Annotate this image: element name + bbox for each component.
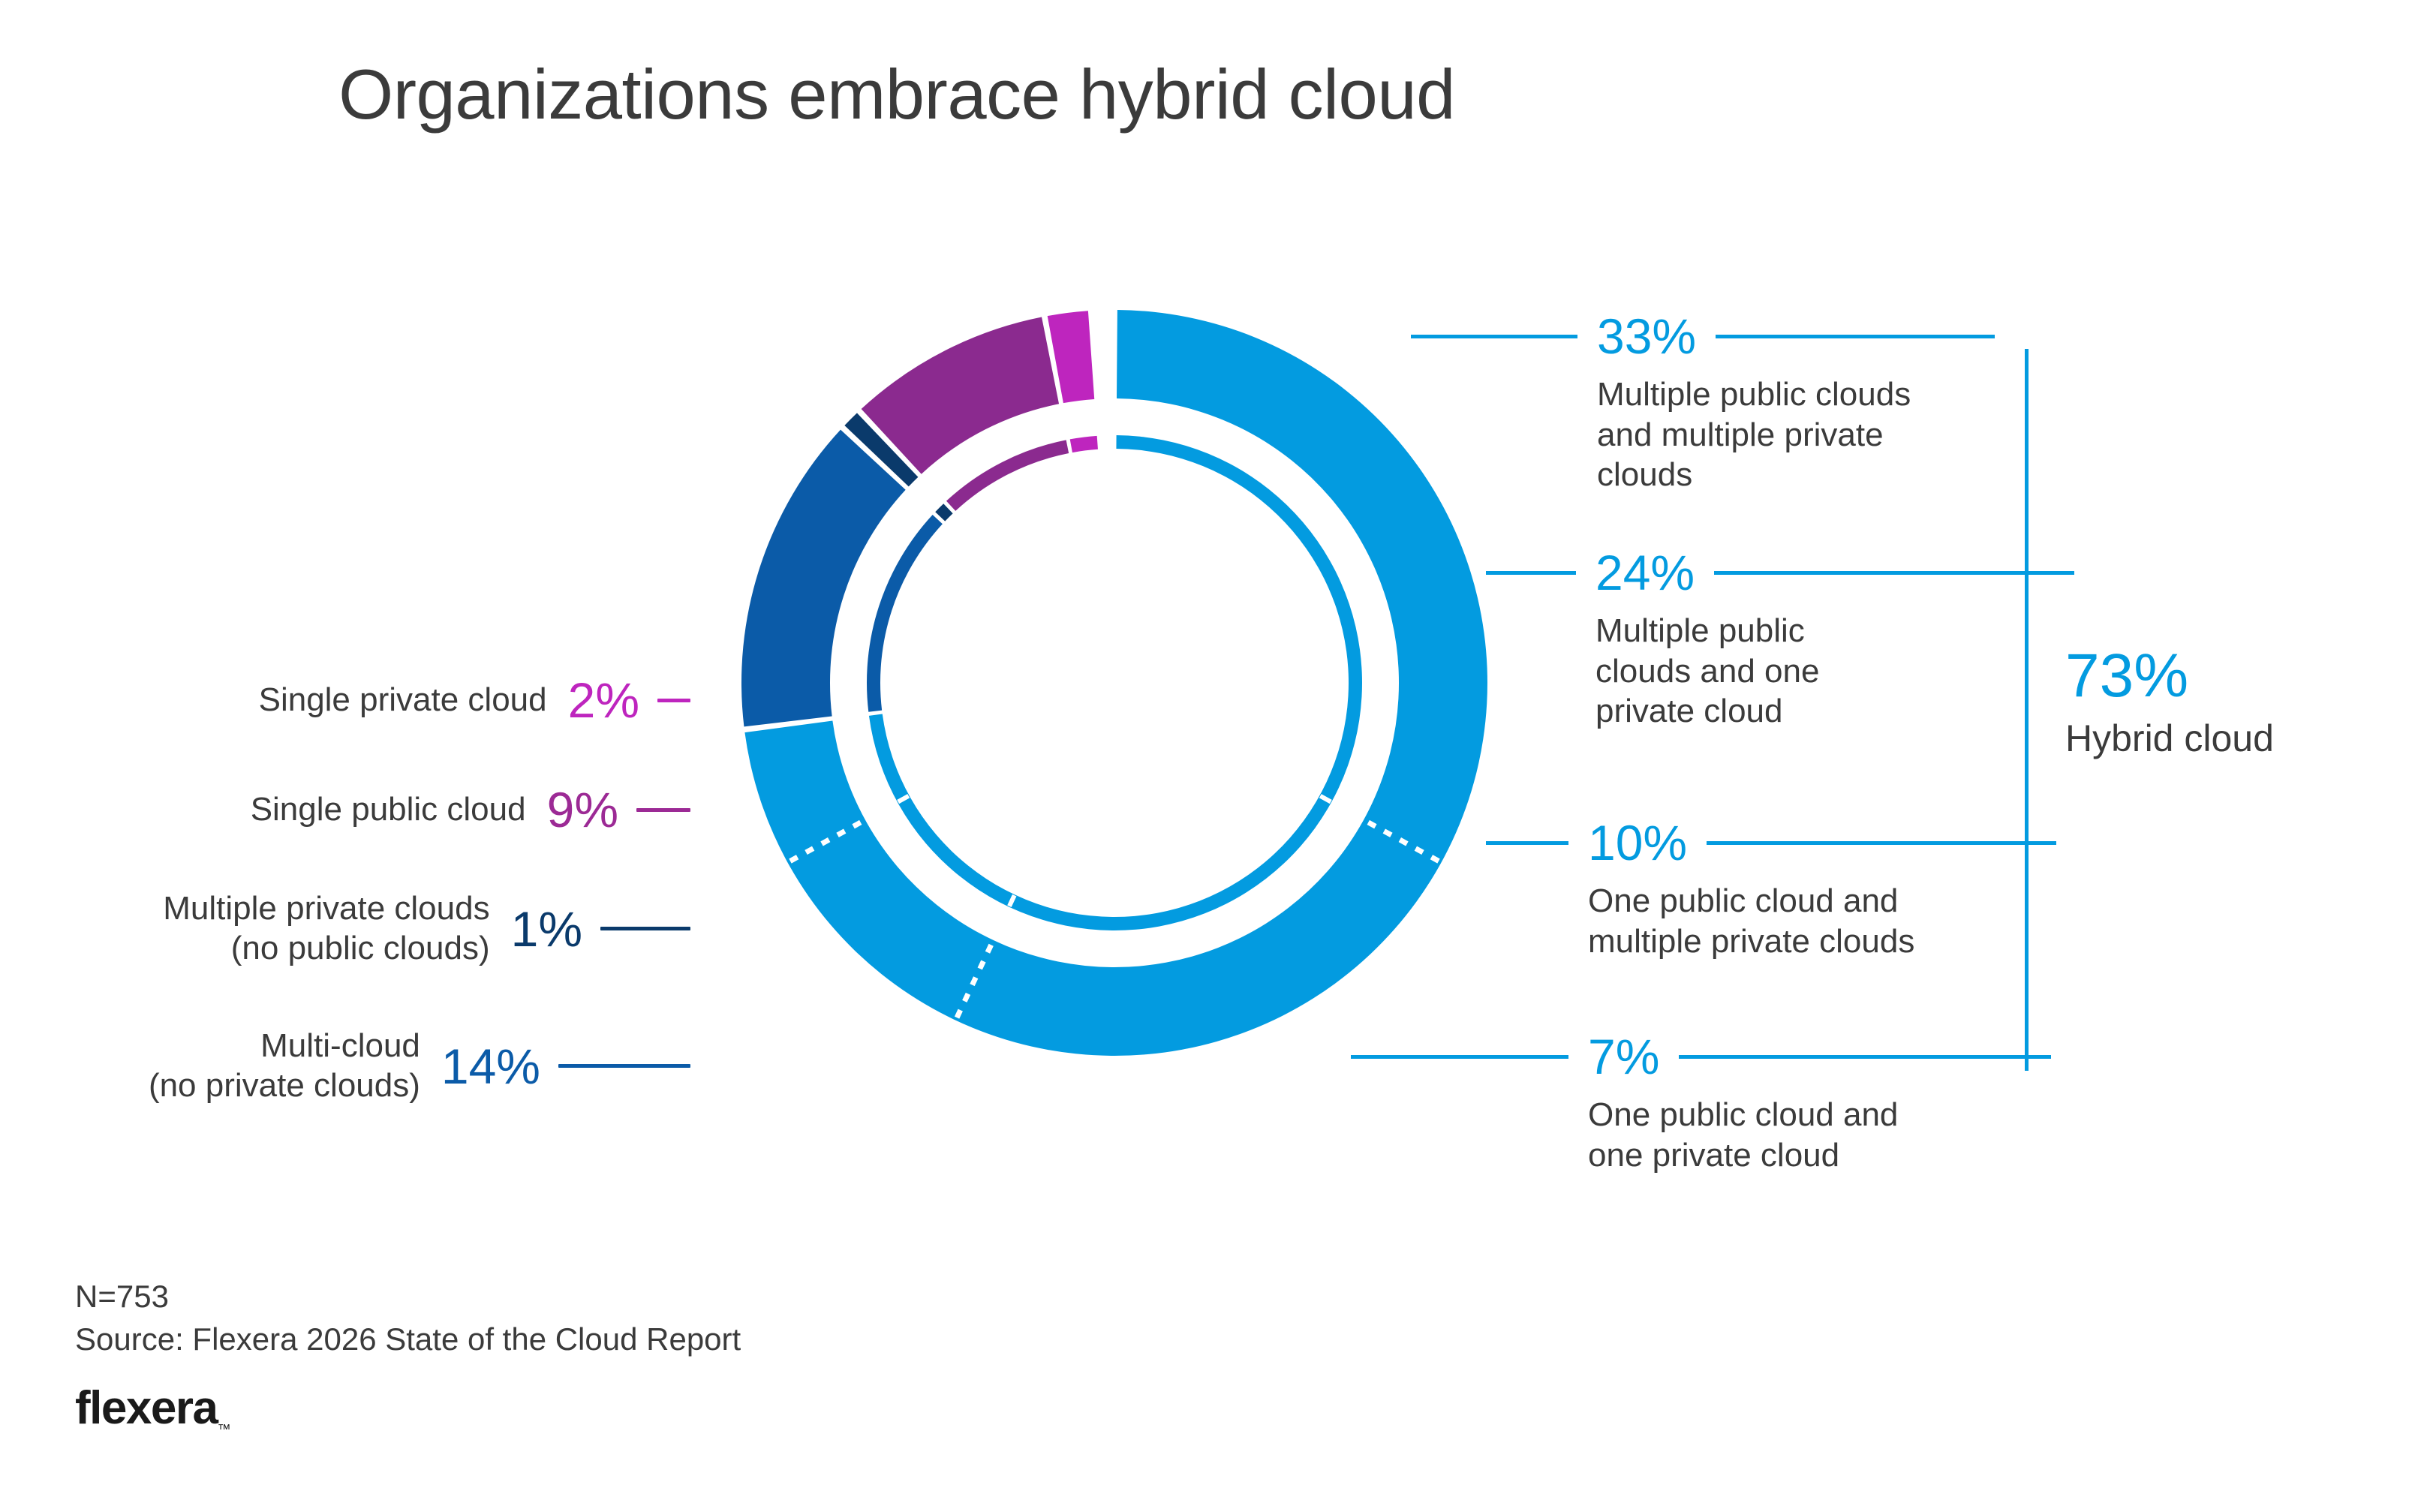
sample-size-text: N=753	[75, 1276, 741, 1318]
callout-value: 7%	[1588, 1032, 1659, 1081]
donut-svg	[735, 304, 1493, 1062]
leader-line-right	[1714, 571, 2074, 575]
callout-multi-cloud: Multi-cloud (no private clouds) 14%	[45, 1027, 690, 1106]
callout-label-line1: Multi-cloud	[149, 1027, 420, 1066]
callout-description: Multiple public clouds and one private c…	[1595, 611, 1896, 732]
callout-multiple-public-multiple-private: 33% Multiple public clouds and multiple …	[1411, 311, 1995, 495]
callout-single-private-cloud: Single private cloud 2%	[113, 675, 690, 725]
callout-label: Multiple private clouds (no public cloud…	[163, 889, 489, 969]
hybrid-total-value: 73%	[2065, 645, 2274, 707]
inner-slice	[935, 503, 952, 521]
callout-description: One public cloud and one private cloud	[1588, 1095, 1941, 1175]
inner-slice	[946, 440, 1069, 511]
callout-value: 33%	[1597, 311, 1696, 361]
callout-value: 2%	[568, 675, 639, 725]
hybrid-total-label: Hybrid cloud	[2065, 716, 2274, 761]
callout-one-public-one-private: 7% One public cloud and one private clou…	[1351, 1032, 2051, 1175]
hybrid-bracket-line	[2025, 349, 2029, 1071]
trademark-symbol: ™	[217, 1422, 230, 1437]
callout-value-row: 24%	[1486, 548, 2074, 597]
callout-single-public-cloud: Single public cloud 9%	[113, 785, 690, 834]
callout-label: Multi-cloud (no private clouds)	[149, 1027, 420, 1106]
donut-chart	[735, 304, 1493, 1062]
leader-line-right	[1679, 1055, 2051, 1059]
footer: N=753 Source: Flexera 2026 State of the …	[75, 1276, 741, 1438]
leader-line-left	[1486, 841, 1568, 845]
callout-label: Single public cloud	[251, 790, 526, 830]
leader-line-left	[1351, 1055, 1568, 1059]
flexera-logo-text: flexera	[75, 1382, 217, 1434]
callout-value: 10%	[1588, 818, 1687, 867]
leader-line-right	[1707, 841, 2056, 845]
callout-description: One public cloud and multiple private cl…	[1588, 881, 1918, 961]
callout-label-line1: Multiple private clouds	[163, 889, 489, 929]
leader-line-left	[1486, 571, 1576, 575]
hybrid-total-callout: 73% Hybrid cloud	[2065, 645, 2274, 761]
inner-slice	[1070, 436, 1098, 452]
callout-value-row: 10%	[1486, 818, 2056, 867]
page-title: Organizations embrace hybrid cloud	[0, 54, 1794, 135]
callout-one-public-multiple-private: 10% One public cloud and multiple privat…	[1486, 818, 2056, 961]
leader-line-left	[1411, 335, 1577, 338]
callout-value: 9%	[547, 785, 618, 834]
callout-value: 1%	[511, 904, 582, 954]
inner-ring	[867, 435, 1362, 930]
outer-ring	[741, 310, 1487, 1056]
callout-value-row: 7%	[1351, 1032, 2051, 1081]
callout-multiple-private-clouds: Multiple private clouds (no public cloud…	[45, 889, 690, 969]
leader-line	[600, 927, 690, 930]
flexera-logo: flexera™	[75, 1381, 741, 1437]
outer-slice	[741, 430, 906, 727]
callout-value: 14%	[441, 1042, 540, 1091]
callout-label-line2: (no private clouds)	[149, 1066, 420, 1106]
callout-label: Single private cloud	[259, 681, 547, 720]
callout-value-row: 33%	[1411, 311, 1995, 361]
inner-slice	[867, 515, 943, 712]
source-text: Source: Flexera 2026 State of the Cloud …	[75, 1318, 741, 1361]
leader-line	[558, 1064, 690, 1068]
callout-multiple-public-one-private: 24% Multiple public clouds and one priva…	[1486, 548, 2074, 732]
callout-description: Multiple public clouds and multiple priv…	[1597, 374, 1912, 495]
leader-line	[657, 699, 690, 702]
leader-line	[636, 808, 690, 812]
callout-value: 24%	[1595, 548, 1695, 597]
callout-label-line2: (no public clouds)	[163, 929, 489, 969]
leader-line-right	[1716, 335, 1995, 338]
